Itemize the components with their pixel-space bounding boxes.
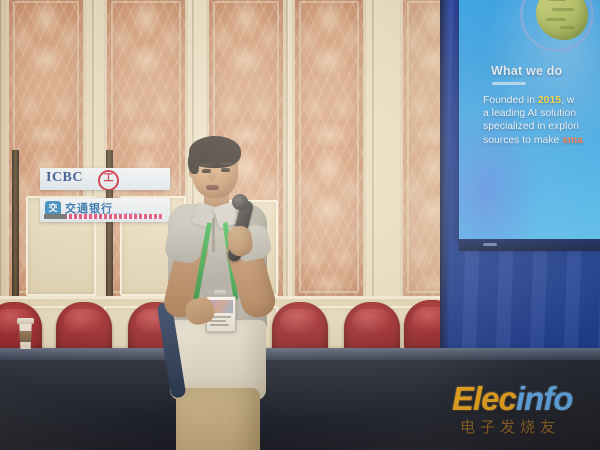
watermark-text-elec: Elec [452, 380, 516, 417]
trousers [176, 388, 260, 450]
icbc-logo-icon: 工 [98, 170, 119, 190]
icbc-wordmark: ICBC [46, 170, 83, 186]
slide-body-line: Founded in 2015, w [483, 94, 600, 107]
brain-icon [520, 0, 594, 52]
presentation-screen: What we do Founded in 2015, w a leading … [459, 0, 600, 245]
highlight-year: 2015 [538, 95, 561, 106]
highlight-smart: sma [562, 135, 583, 146]
mouth [206, 185, 219, 190]
slide-body-line: a leading AI solution [483, 107, 600, 120]
speaker-person [150, 130, 285, 450]
slide-body-line: sources to make sma [483, 134, 600, 147]
watermark-subtitle: 电子发烧友 [460, 416, 560, 437]
damask-panel [292, 0, 366, 300]
watermark-text-info: info [516, 380, 572, 417]
slide-body: Founded in 2015, w a leading AI solution… [483, 94, 600, 147]
slide-title: What we do [491, 64, 562, 78]
ticker-label [44, 214, 66, 219]
screen-bezel [459, 239, 600, 251]
watermark-logo: Elecinfo 电子发烧友 [452, 380, 600, 442]
slide-body-line: specialized in explori [483, 120, 600, 133]
eye [221, 168, 230, 172]
microphone-head [232, 194, 248, 210]
nose [208, 170, 216, 181]
slide-title-rule [492, 82, 526, 85]
screenshot-root: What we do Founded in 2015, w a leading … [0, 0, 600, 450]
coffee-cup [18, 318, 33, 349]
